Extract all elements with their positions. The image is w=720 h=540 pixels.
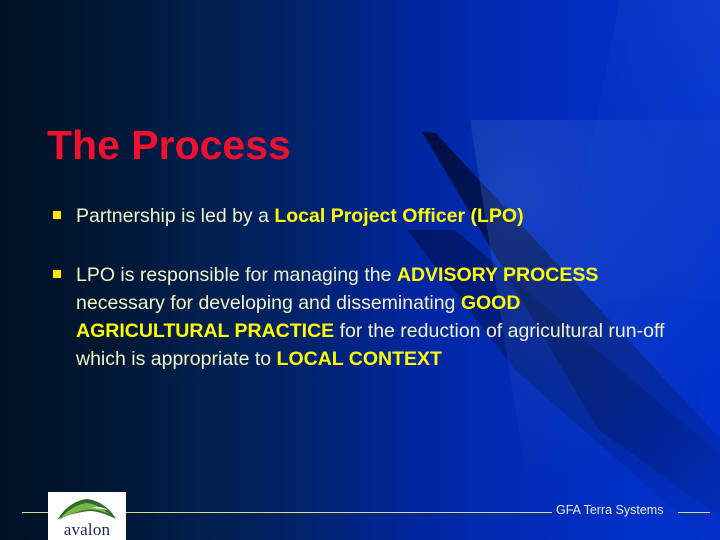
bullet-run-text: necessary for developing and disseminati… [76,292,461,314]
footer-label: GFA Terra Systems [556,503,663,517]
slide-canvas: The Process Partnership is led by a Loca… [0,0,720,540]
avalon-logo: avalon [48,492,126,540]
svg-text:avalon: avalon [64,520,111,539]
square-bullet-icon [53,211,61,219]
bullet-run-emphasis: Local Project Officer (LPO) [274,205,523,227]
footer-rule-right [678,512,710,513]
list-item: Partnership is led by a Local Project Of… [48,202,668,230]
bullet-run-text: Partnership is led by a [76,205,274,227]
slide-body: Partnership is led by a Local Project Of… [48,202,668,373]
slide-title: The Process [47,124,291,167]
avalon-logo-icon: avalon [48,492,126,540]
bullet-run-emphasis: LOCAL CONTEXT [277,348,442,370]
bullet-run-emphasis: ADVISORY PROCESS [397,264,599,286]
list-item: LPO is responsible for managing the ADVI… [48,261,668,373]
square-bullet-icon [53,270,61,278]
bullet-run-text: LPO is responsible for managing the [76,264,397,286]
